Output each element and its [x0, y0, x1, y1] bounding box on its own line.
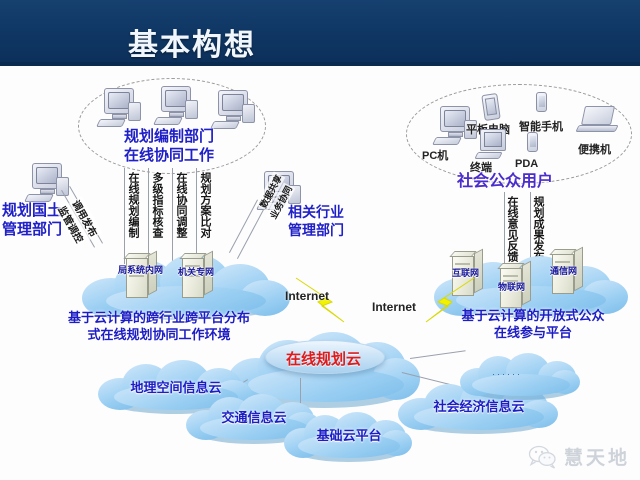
public-users-label: 社会公众用户 — [457, 167, 553, 191]
server-label-bureau-intranet: 局系统内网 — [118, 266, 163, 276]
pda-icon — [527, 132, 538, 152]
related-industry-label-line2: 管理部门 — [288, 223, 344, 239]
internet-label-right: Internet — [372, 300, 416, 314]
wechat-logo-icon — [528, 445, 558, 469]
lightning-bolt-right — [408, 276, 478, 326]
slide-canvas: 基本构想 规划编制部门 在线协同工作 规划国土 管理部门 相关行业 管理部门 调… — [0, 0, 640, 480]
flow-connector — [148, 168, 149, 264]
planning-dept-label-line2: 在线协同工作 — [124, 148, 214, 165]
sub-cloud-more — [460, 352, 584, 402]
header-underline — [0, 62, 640, 66]
online-planning-cloud-title: 在线规划云 — [286, 348, 361, 369]
server-label-telecom: 通信网 — [550, 264, 577, 277]
internet-label-left: Internet — [285, 289, 329, 303]
flow-connector — [196, 168, 197, 264]
flow-label-multilevel-index: 多级指标核查 — [151, 172, 162, 238]
server-label-agency-network: 机关专网 — [178, 268, 214, 278]
planning-dept-label-line1: 规划编制部门 — [124, 129, 214, 146]
land-bureau-label-line1: 规划国土 — [2, 203, 62, 220]
flow-label-online-planning: 在线规划编制 — [127, 172, 138, 238]
sub-cloud-label-basic-platform: 基础云平台 — [286, 428, 412, 443]
server-label-iot: 物联网 — [498, 280, 525, 293]
flow-connector — [237, 206, 266, 259]
watermark-text: 慧天地 — [564, 443, 630, 470]
flow-label-plan-comparison: 规划方案比对 — [199, 172, 210, 238]
related-industry-label-line1: 相关行业 — [288, 205, 344, 221]
left-cloud-text-line1: 基于云计算的跨行业跨平台分布 — [44, 310, 274, 325]
header-background — [0, 0, 640, 66]
device-label-smartphone: 智能手机 — [519, 118, 563, 134]
page-title: 基本构想 — [128, 20, 256, 64]
land-bureau-label-line2: 管理部门 — [2, 222, 62, 239]
smartphone-icon — [536, 92, 547, 112]
flow-connector — [124, 168, 125, 264]
right-cloud-text-line2: 在线参与平台 — [428, 325, 638, 340]
flow-connector — [172, 168, 173, 264]
tablet-icon — [481, 93, 500, 121]
device-label-pc: PC机 — [422, 147, 448, 163]
flow-label-online-coordination: 在线协同调整 — [175, 172, 186, 238]
device-label-laptop: 便携机 — [578, 141, 611, 157]
watermark: 慧天地 — [528, 443, 630, 470]
sub-cloud-label-more: ······ — [492, 369, 522, 379]
slide-header: 基本构想 — [0, 0, 640, 66]
